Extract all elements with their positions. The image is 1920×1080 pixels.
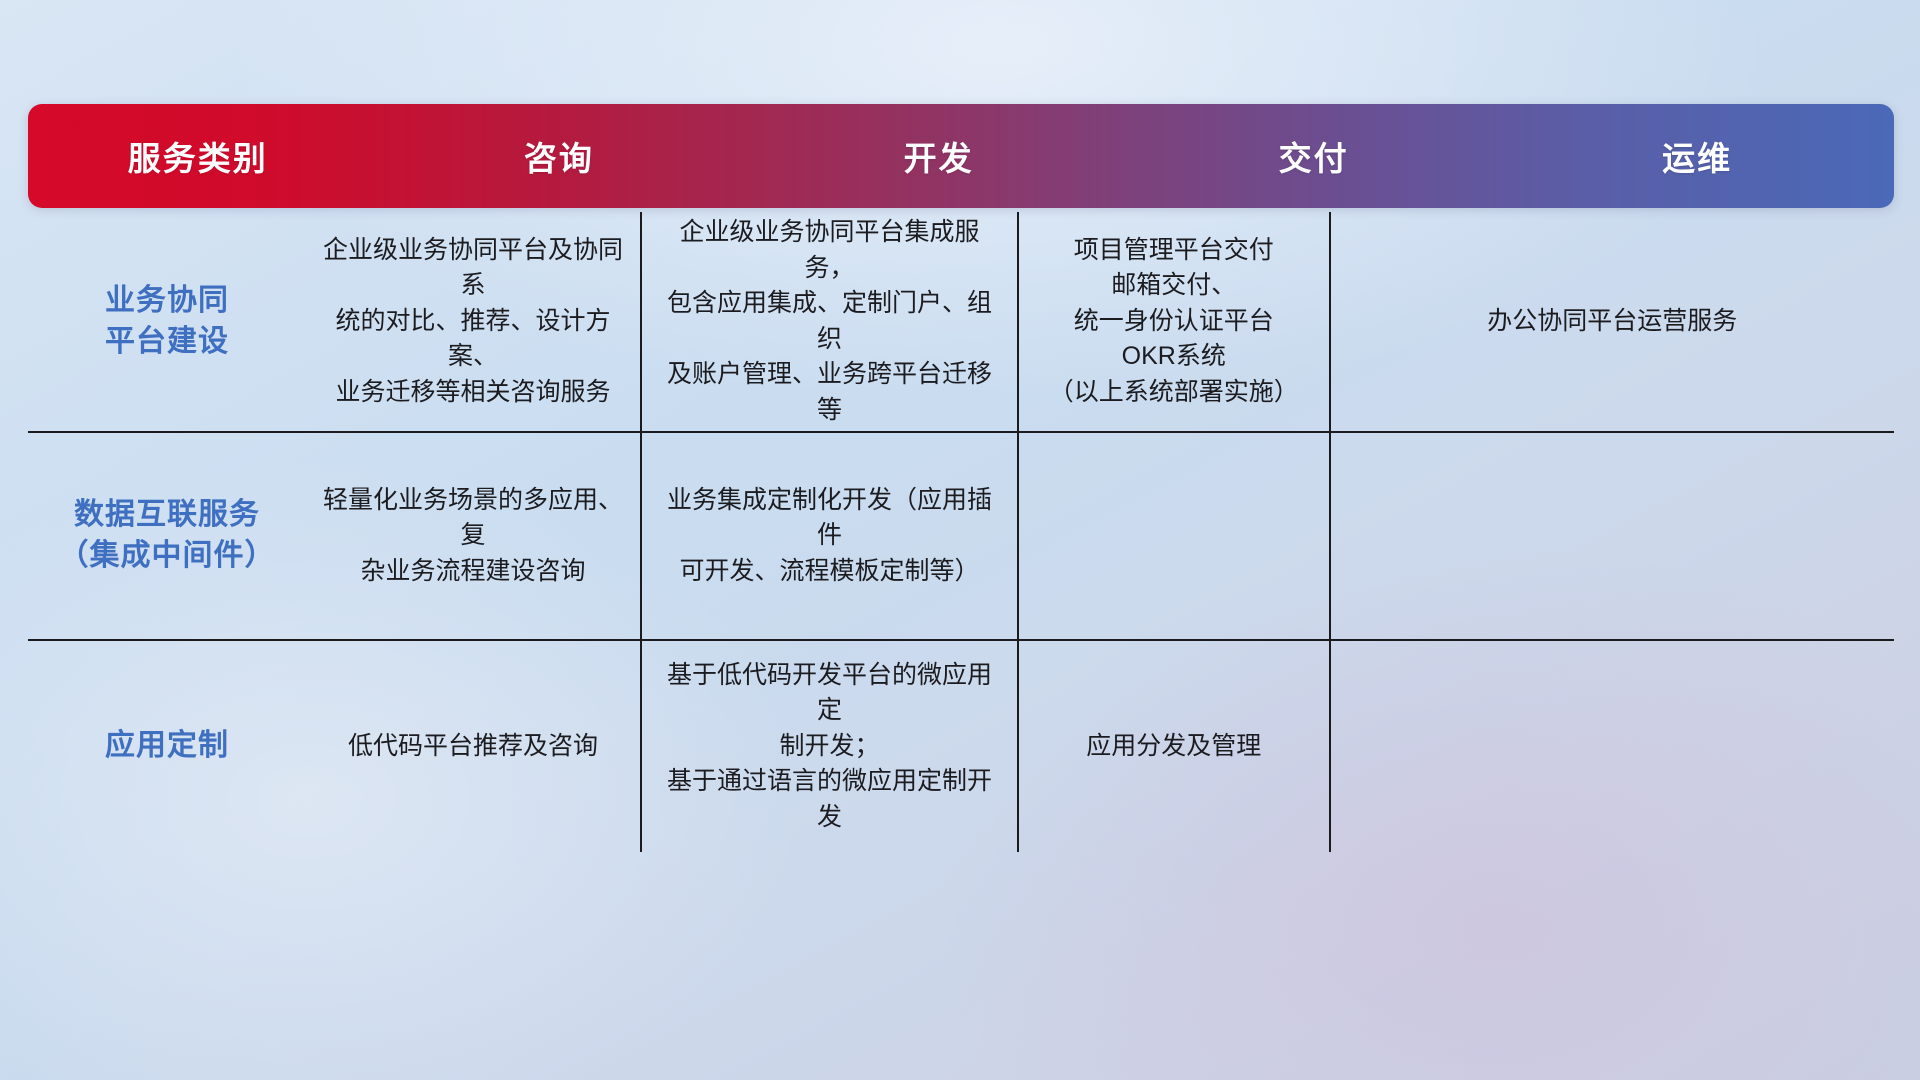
slide-canvas: 服务类别 咨询 开发 交付 运维 业务协同 平台建设 企业级业务协同平台及协同系… [0, 0, 1920, 1080]
column-header-service-category: 服务类别 [28, 104, 368, 208]
column-header-label: 交付 [1279, 132, 1349, 180]
cell-category: 应用定制 [28, 641, 306, 852]
column-header-label: 运维 [1662, 132, 1732, 180]
table-row: 应用定制 低代码平台推荐及咨询 基于低代码开发平台的微应用定 制开发； 基于通过… [28, 639, 1894, 852]
cell-operations: 办公协同平台运营服务 [1329, 212, 1894, 431]
cell-development: 基于低代码开发平台的微应用定 制开发； 基于通过语言的微应用定制开发 [640, 641, 1017, 852]
table-header-row: 服务类别 咨询 开发 交付 运维 [28, 104, 1894, 208]
cell-consulting: 企业级业务协同平台及协同系 统的对比、推荐、设计方案、 业务迁移等相关咨询服务 [306, 212, 640, 431]
cell-category: 数据互联服务 （集成中间件） [28, 433, 306, 639]
column-header-label: 开发 [904, 132, 974, 180]
table-row: 业务协同 平台建设 企业级业务协同平台及协同系 统的对比、推荐、设计方案、 业务… [28, 212, 1894, 431]
column-header-consulting: 咨询 [368, 104, 751, 208]
cell-operations [1329, 641, 1894, 852]
column-header-development: 开发 [750, 104, 1127, 208]
service-matrix-table: 服务类别 咨询 开发 交付 运维 业务协同 平台建设 企业级业务协同平台及协同系… [28, 104, 1894, 852]
cell-delivery: 应用分发及管理 [1017, 641, 1329, 852]
cell-delivery: 项目管理平台交付 邮箱交付、 统一身份认证平台 OKR系统 （以上系统部署实施） [1017, 212, 1329, 431]
cell-development: 企业级业务协同平台集成服务， 包含应用集成、定制门户、组织 及账户管理、业务跨平… [640, 212, 1017, 431]
column-header-operations: 运维 [1500, 104, 1894, 208]
column-header-label: 咨询 [524, 132, 594, 180]
cell-delivery [1017, 433, 1329, 639]
column-header-delivery: 交付 [1127, 104, 1500, 208]
table-body: 业务协同 平台建设 企业级业务协同平台及协同系 统的对比、推荐、设计方案、 业务… [28, 212, 1894, 852]
column-header-label: 服务类别 [128, 132, 268, 180]
cell-development: 业务集成定制化开发（应用插件 可开发、流程模板定制等） [640, 433, 1017, 639]
cell-category: 业务协同 平台建设 [28, 212, 306, 431]
cell-consulting: 低代码平台推荐及咨询 [306, 641, 640, 852]
table-row: 数据互联服务 （集成中间件） 轻量化业务场景的多应用、复 杂业务流程建设咨询 业… [28, 431, 1894, 639]
cell-operations [1329, 433, 1894, 639]
cell-consulting: 轻量化业务场景的多应用、复 杂业务流程建设咨询 [306, 433, 640, 639]
